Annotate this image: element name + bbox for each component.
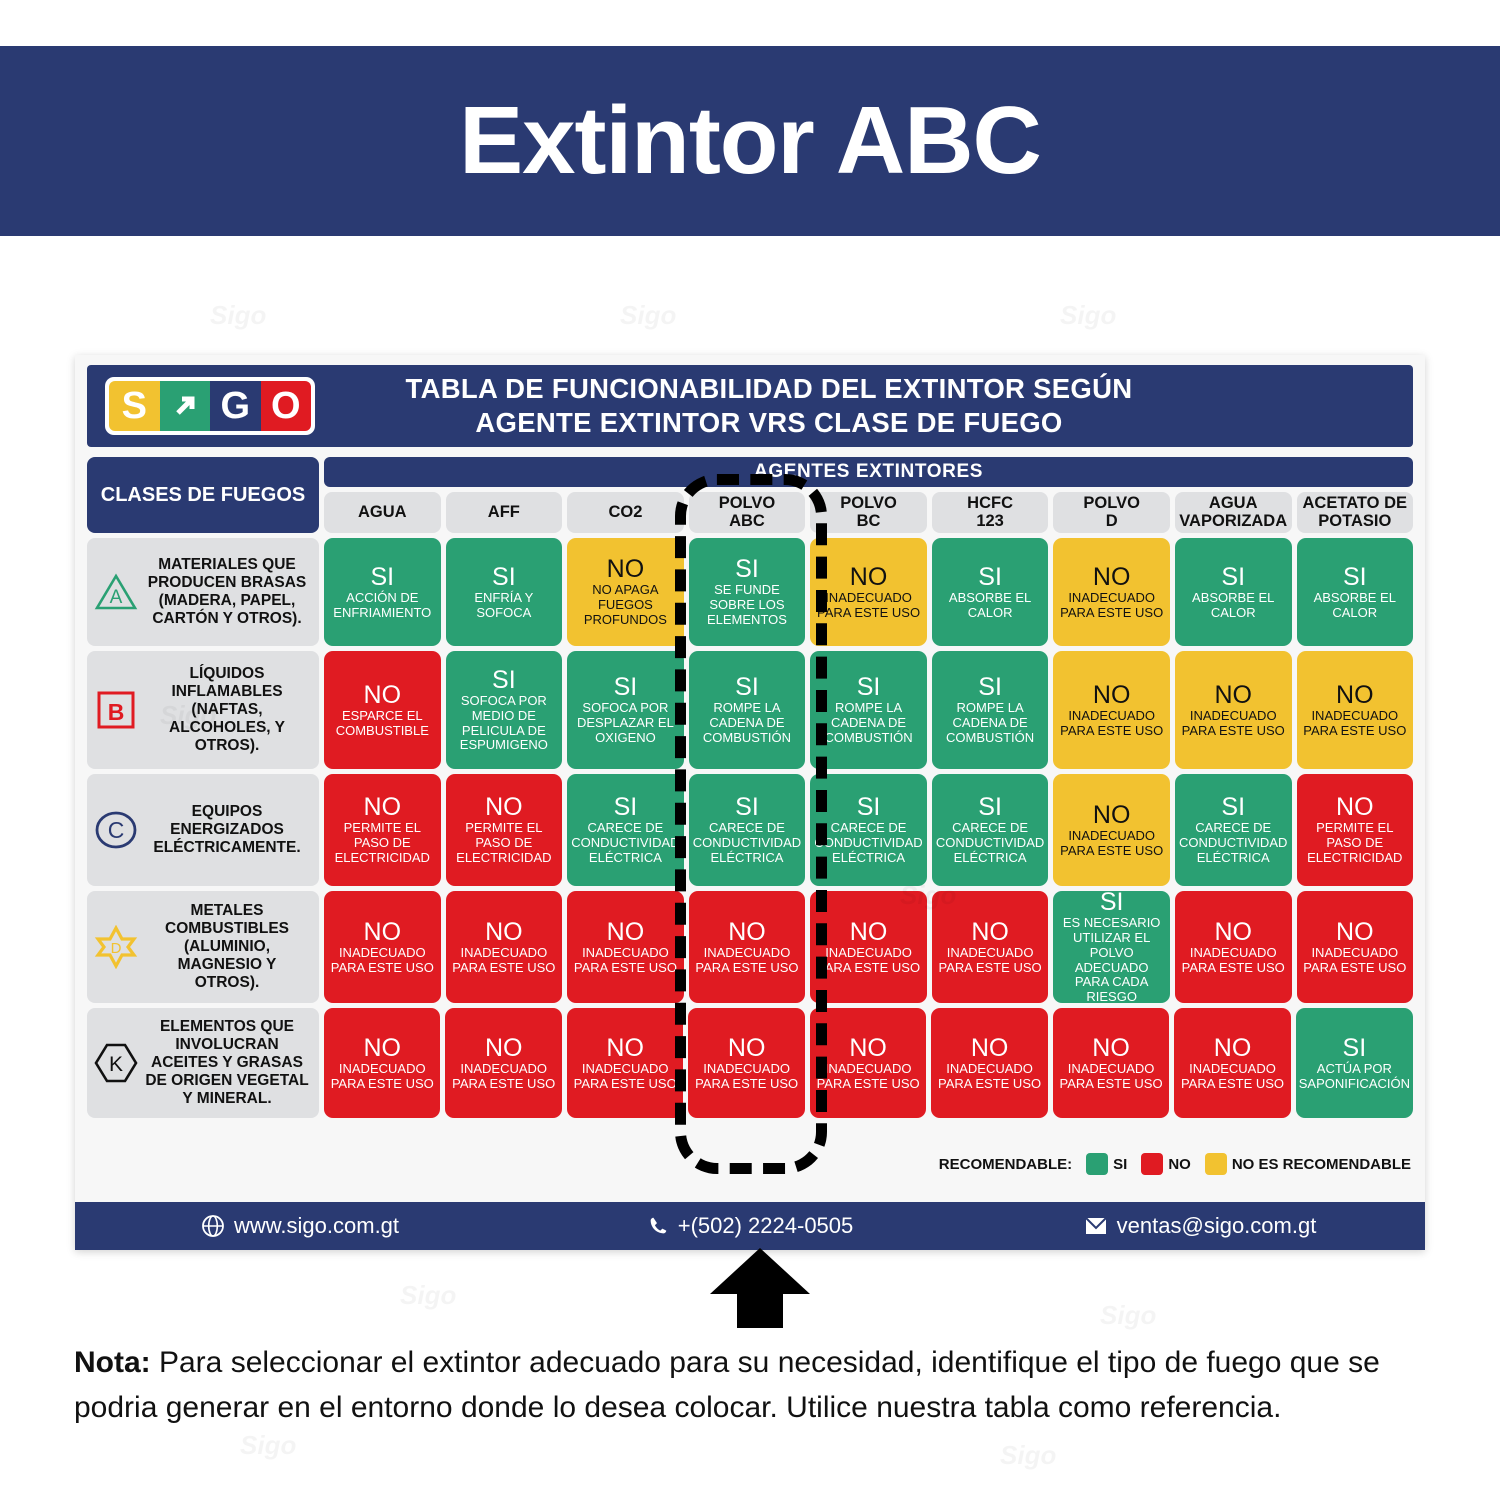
- cell-verdict: NO: [364, 682, 402, 708]
- pointer-arrow-icon: [705, 1248, 815, 1328]
- poster-footer: www.sigo.com.gt +(502) 2224-0505 ventas@…: [75, 1202, 1425, 1250]
- watermark: Sigo: [400, 1280, 456, 1311]
- cell-reason: INADECUADO PARA ESTE USO: [448, 1062, 558, 1092]
- cell-c-acetato-de-potasio: NOPERMITE EL PASO DE ELECTRICIDAD: [1297, 774, 1414, 886]
- legend-item-si: SI: [1086, 1153, 1127, 1175]
- cell-b-polvo-bc: SIROMPE LA CADENA DE COMBUSTIÓN: [810, 651, 927, 769]
- cell-reason: CARECE DE CONDUCTIVIDAD ELÉCTRICA: [570, 821, 681, 865]
- cell-b-agua-vaporizada: NOINADECUADO PARA ESTE USO: [1175, 651, 1292, 769]
- agent-head-polvo-d[interactable]: POLVO D: [1053, 492, 1170, 533]
- cell-verdict: NO: [1093, 682, 1131, 708]
- cell-verdict: NO: [1214, 919, 1252, 945]
- cell-b-aff: SISOFOCA POR MEDIO DE PELICULA DE ESPUMI…: [446, 651, 563, 769]
- svg-text:K: K: [109, 1053, 123, 1076]
- agent-head-polvo-bc[interactable]: POLVO BC: [810, 492, 927, 533]
- cell-reason: INADECUADO PARA ESTE USO: [1178, 709, 1289, 739]
- agent-head-line1: POLVO: [840, 495, 897, 513]
- cell-c-polvo-bc: SICARECE DE CONDUCTIVIDAD ELÉCTRICA: [810, 774, 927, 886]
- cell-reason: SOFOCA POR MEDIO DE PELICULA DE ESPUMIGE…: [449, 694, 560, 753]
- cell-a-agua: SIACCIÓN DE ENFRIAMIENTO: [324, 538, 441, 646]
- table-row: K ELEMENTOS QUE INVOLUCRAN ACEITES Y GRA…: [87, 1008, 1413, 1118]
- poster-card: S G O TABLA DE FUNCIONABILIDAD DEL EXTIN…: [75, 355, 1425, 1250]
- class-c-circle-icon: C: [93, 809, 139, 851]
- class-c-description: EQUIPOS ENERGIZADOS ELÉCTRICAMENTE.: [145, 803, 309, 857]
- cell-c-hcfc-123: SICARECE DE CONDUCTIVIDAD ELÉCTRICA: [932, 774, 1049, 886]
- cell-reason: PERMITE EL PASO DE ELECTRICIDAD: [327, 821, 438, 865]
- watermark: Sigo: [240, 1430, 296, 1461]
- footer-phone[interactable]: +(502) 2224-0505: [525, 1213, 975, 1239]
- agent-head-co2[interactable]: CO2: [567, 492, 684, 533]
- cell-d-polvo-d: SIES NECESARIO UTILIZAR EL POLVO ADECUAD…: [1053, 891, 1170, 1003]
- cell-verdict: NO: [606, 1035, 644, 1061]
- cell-reason: SOFOCA POR DESPLAZAR EL OXIGENO: [570, 701, 681, 745]
- table-row: D METALES COMBUSTIBLES (ALUMINIO, MAGNES…: [87, 891, 1413, 1003]
- cell-b-agua: NOESPARCE EL COMBUSTIBLE: [324, 651, 441, 769]
- cell-verdict: SI: [1221, 794, 1245, 820]
- logo-letter-o: O: [261, 381, 312, 431]
- svg-text:C: C: [108, 817, 125, 843]
- cell-verdict: NO: [1093, 802, 1131, 828]
- svg-text:D: D: [111, 940, 122, 957]
- cell-d-acetato-de-potasio: NOINADECUADO PARA ESTE USO: [1297, 891, 1414, 1003]
- agent-head-hcfc-123[interactable]: HCFC 123: [932, 492, 1049, 533]
- logo-arrow-up-right-icon: [160, 381, 211, 431]
- agent-head-line2: POTASIO: [1318, 513, 1391, 531]
- poster-header-title-line1: TABLA DE FUNCIONABILIDAD DEL EXTINTOR SE…: [315, 372, 1223, 406]
- poster-page: Extintor ABC S G O TABLA DE FUNCIONABILI…: [0, 0, 1500, 1500]
- agent-head-acetato-de-potasio[interactable]: ACETATO DE POTASIO: [1297, 492, 1414, 533]
- cell-k-agua-vaporizada: NOINADECUADO PARA ESTE USO: [1174, 1008, 1290, 1118]
- cell-k-agua: NOINADECUADO PARA ESTE USO: [324, 1008, 440, 1118]
- cell-verdict: NO: [1336, 682, 1374, 708]
- cell-d-hcfc-123: NOINADECUADO PARA ESTE USO: [932, 891, 1049, 1003]
- cell-verdict: NO: [1336, 794, 1374, 820]
- cell-reason: ROMPE LA CADENA DE COMBUSTIÓN: [692, 701, 803, 745]
- cell-verdict: NO: [850, 919, 888, 945]
- cell-reason: INADECUADO PARA ESTE USO: [1178, 946, 1289, 976]
- cell-verdict: NO: [850, 564, 888, 590]
- cell-verdict: SI: [978, 564, 1002, 590]
- cell-a-polvo-d: NOINADECUADO PARA ESTE USO: [1053, 538, 1170, 646]
- agent-head-aff[interactable]: AFF: [446, 492, 563, 533]
- footer-website[interactable]: www.sigo.com.gt: [75, 1213, 525, 1239]
- agent-head-agua[interactable]: AGUA: [324, 492, 441, 533]
- cell-verdict: SI: [1221, 564, 1245, 590]
- watermark: Sigo: [620, 300, 676, 331]
- cell-verdict: NO: [1214, 682, 1252, 708]
- cell-verdict: NO: [485, 1035, 523, 1061]
- agent-head-line2: ABC: [729, 513, 765, 531]
- cell-verdict: SI: [492, 564, 516, 590]
- agent-head-line2: VAPORIZADA: [1179, 513, 1287, 531]
- cell-verdict: SI: [857, 674, 881, 700]
- note-label: Nota:: [74, 1346, 151, 1379]
- cell-reason: ES NECESARIO UTILIZAR EL POLVO ADECUADO …: [1056, 916, 1167, 1005]
- cell-reason: CARECE DE CONDUCTIVIDAD ELÉCTRICA: [813, 821, 924, 865]
- cell-reason: ROMPE LA CADENA DE COMBUSTIÓN: [813, 701, 924, 745]
- class-d-description: METALES COMBUSTIBLES (ALUMINIO, MAGNESIO…: [145, 902, 309, 993]
- cell-verdict: NO: [485, 919, 523, 945]
- page-title: Extintor ABC: [459, 93, 1041, 189]
- watermark: Sigo: [1060, 300, 1116, 331]
- cell-reason: INADECUADO PARA ESTE USO: [692, 946, 803, 976]
- cell-verdict: NO: [1336, 919, 1374, 945]
- cell-a-polvo-bc: NOINADECUADO PARA ESTE USO: [810, 538, 927, 646]
- agents-bar-label: AGENTES EXTINTORES: [324, 457, 1413, 487]
- agents-column-group: AGENTES EXTINTORES AGUA AFF CO2: [324, 457, 1413, 533]
- cell-reason: INADECUADO PARA ESTE USO: [327, 1062, 437, 1092]
- watermark: Sigo: [210, 300, 266, 331]
- cell-b-polvo-abc: SIROMPE LA CADENA DE COMBUSTIÓN: [689, 651, 806, 769]
- cell-verdict: NO: [728, 919, 766, 945]
- cell-verdict: NO: [728, 1035, 766, 1061]
- cell-verdict: SI: [1343, 1035, 1367, 1061]
- cell-reason: INADECUADO PARA ESTE USO: [1300, 709, 1411, 739]
- logo-letter-g: G: [210, 381, 261, 431]
- cell-reason: CARECE DE CONDUCTIVIDAD ELÉCTRICA: [935, 821, 1046, 865]
- legend-item-no: NO: [1141, 1153, 1191, 1175]
- table-row: C EQUIPOS ENERGIZADOS ELÉCTRICAMENTE. NO…: [87, 774, 1413, 886]
- cell-verdict: SI: [978, 674, 1002, 700]
- class-k-description: ELEMENTOS QUE INVOLUCRAN ACEITES Y GRASA…: [145, 1018, 309, 1109]
- cell-a-hcfc-123: SIABSORBE EL CALOR: [932, 538, 1049, 646]
- legend-swatch-yellow: [1205, 1153, 1227, 1175]
- legend: RECOMENDABLE: SI NO NO ES RECOMENDABLE: [939, 1153, 1411, 1175]
- cell-verdict: SI: [735, 556, 759, 582]
- cell-c-co2: SICARECE DE CONDUCTIVIDAD ELÉCTRICA: [567, 774, 684, 886]
- cell-verdict: SI: [614, 794, 638, 820]
- functionality-table: CLASES DE FUEGOS AGENTES EXTINTORES AGUA…: [87, 457, 1413, 1123]
- cell-reason: ACTÚA POR SAPONIFICACIÓN: [1299, 1062, 1410, 1092]
- cell-reason: CARECE DE CONDUCTIVIDAD ELÉCTRICA: [1178, 821, 1289, 865]
- cell-reason: SE FUNDE SOBRE LOS ELEMENTOS: [692, 583, 803, 627]
- cell-verdict: SI: [1343, 564, 1367, 590]
- cell-b-polvo-d: NOINADECUADO PARA ESTE USO: [1053, 651, 1170, 769]
- row-a-cells: SIACCIÓN DE ENFRIAMIENTO SIENFRÍA Y SOFO…: [324, 538, 1413, 646]
- cell-reason: ESPARCE EL COMBUSTIBLE: [327, 709, 438, 739]
- cell-a-acetato-de-potasio: SIABSORBE EL CALOR: [1297, 538, 1414, 646]
- table-row: A MATERIALES QUE PRODUCEN BRASAS (MADERA…: [87, 538, 1413, 646]
- cell-reason: INADECUADO PARA ESTE USO: [813, 591, 924, 621]
- cell-verdict: SI: [978, 794, 1002, 820]
- cell-reason: INADECUADO PARA ESTE USO: [813, 946, 924, 976]
- watermark: Sigo: [1100, 1300, 1156, 1331]
- cell-k-co2: NOINADECUADO PARA ESTE USO: [567, 1008, 683, 1118]
- cell-verdict: SI: [492, 667, 516, 693]
- cell-reason: INADECUADO PARA ESTE USO: [813, 1062, 923, 1092]
- class-cell-b: B LÍQUIDOS INFLAMABLES (NAFTAS, ALCOHOLE…: [87, 651, 319, 769]
- class-a-description: MATERIALES QUE PRODUCEN BRASAS (MADERA, …: [145, 556, 309, 629]
- agent-head-line1: POLVO: [719, 495, 776, 513]
- cell-a-polvo-abc: SISE FUNDE SOBRE LOS ELEMENTOS: [689, 538, 806, 646]
- cell-k-polvo-bc: NOINADECUADO PARA ESTE USO: [810, 1008, 926, 1118]
- cell-c-polvo-abc: SICARECE DE CONDUCTIVIDAD ELÉCTRICA: [689, 774, 806, 886]
- cell-b-hcfc-123: SIROMPE LA CADENA DE COMBUSTIÓN: [932, 651, 1049, 769]
- legend-label: RECOMENDABLE:: [939, 1156, 1072, 1173]
- cell-a-agua-vaporizada: SIABSORBE EL CALOR: [1175, 538, 1292, 646]
- cell-reason: INADECUADO PARA ESTE USO: [934, 1062, 1044, 1092]
- legend-text-no: NO: [1168, 1156, 1191, 1173]
- cell-reason: INADECUADO PARA ESTE USO: [570, 946, 681, 976]
- legend-text-si: SI: [1113, 1156, 1127, 1173]
- cell-verdict: NO: [364, 794, 402, 820]
- class-cell-c: C EQUIPOS ENERGIZADOS ELÉCTRICAMENTE.: [87, 774, 319, 886]
- cell-verdict: NO: [485, 794, 523, 820]
- cell-reason: ENFRÍA Y SOFOCA: [449, 591, 560, 621]
- cell-verdict: SI: [614, 674, 638, 700]
- poster-header: S G O TABLA DE FUNCIONABILIDAD DEL EXTIN…: [87, 365, 1413, 447]
- agent-head-polvo-abc[interactable]: POLVO ABC: [689, 492, 806, 533]
- cell-verdict: NO: [1214, 1035, 1252, 1061]
- cell-k-polvo-abc: NOINADECUADO PARA ESTE USO: [688, 1008, 804, 1118]
- class-d-star-icon: D: [93, 925, 139, 969]
- cell-d-aff: NOINADECUADO PARA ESTE USO: [446, 891, 563, 1003]
- note-text: Nota: Para seleccionar el extintor adecu…: [74, 1340, 1430, 1430]
- class-a-triangle-icon: A: [93, 572, 139, 612]
- svg-text:B: B: [108, 699, 125, 725]
- cell-reason: ABSORBE EL CALOR: [1300, 591, 1411, 621]
- agent-head-line1: AGUA: [1209, 495, 1258, 513]
- phone-icon: [647, 1215, 669, 1237]
- class-b-description: LÍQUIDOS INFLAMABLES (NAFTAS, ALCOHOLES,…: [145, 665, 309, 756]
- cell-reason: INADECUADO PARA ESTE USO: [1056, 709, 1167, 739]
- cell-reason: INADECUADO PARA ESTE USO: [1300, 946, 1411, 976]
- cell-reason: INADECUADO PARA ESTE USO: [691, 1062, 801, 1092]
- cell-b-acetato-de-potasio: NOINADECUADO PARA ESTE USO: [1297, 651, 1414, 769]
- footer-email[interactable]: ventas@sigo.com.gt: [975, 1213, 1425, 1239]
- cell-d-co2: NOINADECUADO PARA ESTE USO: [567, 891, 684, 1003]
- agent-head-line1: AGUA: [358, 504, 407, 522]
- cell-verdict: SI: [857, 794, 881, 820]
- cell-d-agua: NOINADECUADO PARA ESTE USO: [324, 891, 441, 1003]
- cell-verdict: NO: [1092, 1035, 1130, 1061]
- cell-verdict: NO: [971, 919, 1009, 945]
- cell-c-aff: NOPERMITE EL PASO DE ELECTRICIDAD: [446, 774, 563, 886]
- footer-phone-text: +(502) 2224-0505: [678, 1213, 854, 1239]
- cell-d-polvo-abc: NOINADECUADO PARA ESTE USO: [689, 891, 806, 1003]
- cell-reason: PERMITE EL PASO DE ELECTRICIDAD: [1300, 821, 1411, 865]
- row-k-cells: NOINADECUADO PARA ESTE USO NOINADECUADO …: [324, 1008, 1413, 1118]
- cell-c-agua-vaporizada: SICARECE DE CONDUCTIVIDAD ELÉCTRICA: [1175, 774, 1292, 886]
- cell-verdict: NO: [971, 1035, 1009, 1061]
- agent-head-line2: 123: [976, 513, 1004, 531]
- svg-text:A: A: [110, 587, 123, 608]
- cell-reason: ACCIÓN DE ENFRIAMIENTO: [327, 591, 438, 621]
- cell-reason: INADECUADO PARA ESTE USO: [1177, 1062, 1287, 1092]
- poster-header-title: TABLA DE FUNCIONABILIDAD DEL EXTINTOR SE…: [315, 372, 1413, 439]
- cell-reason: NO APAGA FUEGOS PROFUNDOS: [570, 583, 681, 627]
- row-d-cells: NOINADECUADO PARA ESTE USO NOINADECUADO …: [324, 891, 1413, 1003]
- row-c-cells: NOPERMITE EL PASO DE ELECTRICIDAD NOPERM…: [324, 774, 1413, 886]
- cell-reason: INADECUADO PARA ESTE USO: [449, 946, 560, 976]
- class-cell-k: K ELEMENTOS QUE INVOLUCRAN ACEITES Y GRA…: [87, 1008, 319, 1118]
- row-b-cells: NOESPARCE EL COMBUSTIBLE SISOFOCA POR ME…: [324, 651, 1413, 769]
- cell-reason: ABSORBE EL CALOR: [1178, 591, 1289, 621]
- agent-header-cells: AGUA AFF CO2 POLVO AB: [324, 492, 1413, 533]
- agent-head-line1: HCFC: [967, 495, 1013, 513]
- cell-d-agua-vaporizada: NOINADECUADO PARA ESTE USO: [1175, 891, 1292, 1003]
- cell-reason: CARECE DE CONDUCTIVIDAD ELÉCTRICA: [692, 821, 803, 865]
- mail-icon: [1084, 1216, 1108, 1236]
- cell-reason: PERMITE EL PASO DE ELECTRICIDAD: [449, 821, 560, 865]
- cell-verdict: NO: [607, 919, 645, 945]
- logo-letter-s: S: [109, 381, 160, 431]
- agent-head-line1: ACETATO DE: [1303, 495, 1408, 513]
- cell-k-polvo-d: NOINADECUADO PARA ESTE USO: [1053, 1008, 1169, 1118]
- class-b-square-icon: B: [93, 689, 139, 731]
- cell-c-polvo-d: NOINADECUADO PARA ESTE USO: [1053, 774, 1170, 886]
- cell-k-acetato-de-potasio: SIACTÚA POR SAPONIFICACIÓN: [1296, 1008, 1413, 1118]
- globe-icon: [201, 1214, 225, 1238]
- legend-text-no-recomendable: NO ES RECOMENDABLE: [1232, 1156, 1411, 1173]
- legend-swatch-green: [1086, 1153, 1108, 1175]
- cell-k-aff: NOINADECUADO PARA ESTE USO: [445, 1008, 561, 1118]
- class-cell-d: D METALES COMBUSTIBLES (ALUMINIO, MAGNES…: [87, 891, 319, 1003]
- legend-item-no-recomendable: NO ES RECOMENDABLE: [1205, 1153, 1411, 1175]
- cell-verdict: SI: [370, 564, 394, 590]
- cell-a-aff: SIENFRÍA Y SOFOCA: [446, 538, 563, 646]
- cell-k-hcfc-123: NOINADECUADO PARA ESTE USO: [931, 1008, 1047, 1118]
- sigo-logo: S G O: [105, 377, 315, 435]
- cell-verdict: SI: [735, 674, 759, 700]
- corner-label: CLASES DE FUEGOS: [87, 457, 319, 533]
- class-cell-a: A MATERIALES QUE PRODUCEN BRASAS (MADERA…: [87, 538, 319, 646]
- cell-d-polvo-bc: NOINADECUADO PARA ESTE USO: [810, 891, 927, 1003]
- agent-head-line1: CO2: [608, 504, 642, 522]
- cell-a-co2: NONO APAGA FUEGOS PROFUNDOS: [567, 538, 684, 646]
- cell-verdict: NO: [364, 919, 402, 945]
- top-banner: Extintor ABC: [0, 46, 1500, 236]
- cell-reason: INADECUADO PARA ESTE USO: [1056, 829, 1167, 859]
- cell-reason: INADECUADO PARA ESTE USO: [935, 946, 1046, 976]
- cell-verdict: SI: [1100, 889, 1124, 915]
- cell-verdict: NO: [363, 1035, 401, 1061]
- class-k-hexagon-icon: K: [93, 1041, 139, 1085]
- note-body: Para seleccionar el extintor adecuado pa…: [74, 1346, 1380, 1424]
- cell-verdict: NO: [1093, 564, 1131, 590]
- table-row: B LÍQUIDOS INFLAMABLES (NAFTAS, ALCOHOLE…: [87, 651, 1413, 769]
- footer-website-text: www.sigo.com.gt: [234, 1213, 399, 1239]
- agent-head-line1: POLVO: [1083, 495, 1140, 513]
- cell-verdict: NO: [849, 1035, 887, 1061]
- watermark: Sigo: [1000, 1440, 1056, 1471]
- cell-reason: INADECUADO PARA ESTE USO: [327, 946, 438, 976]
- cell-reason: ABSORBE EL CALOR: [935, 591, 1046, 621]
- footer-email-text: ventas@sigo.com.gt: [1117, 1213, 1317, 1239]
- agent-head-agua-vaporizada[interactable]: AGUA VAPORIZADA: [1175, 492, 1292, 533]
- poster-header-title-line2: AGENTE EXTINTOR VRS CLASE DE FUEGO: [315, 406, 1223, 440]
- legend-swatch-red: [1141, 1153, 1163, 1175]
- cell-c-agua: NOPERMITE EL PASO DE ELECTRICIDAD: [324, 774, 441, 886]
- table-header-row: CLASES DE FUEGOS AGENTES EXTINTORES AGUA…: [87, 457, 1413, 533]
- agent-head-line2: D: [1106, 513, 1118, 531]
- cell-verdict: SI: [735, 794, 759, 820]
- cell-reason: INADECUADO PARA ESTE USO: [1056, 1062, 1166, 1092]
- cell-reason: INADECUADO PARA ESTE USO: [1056, 591, 1167, 621]
- cell-verdict: NO: [607, 556, 645, 582]
- cell-reason: ROMPE LA CADENA DE COMBUSTIÓN: [935, 701, 1046, 745]
- cell-reason: INADECUADO PARA ESTE USO: [570, 1062, 680, 1092]
- agent-head-line2: BC: [857, 513, 881, 531]
- agent-head-line1: AFF: [488, 504, 520, 522]
- cell-b-co2: SISOFOCA POR DESPLAZAR EL OXIGENO: [567, 651, 684, 769]
